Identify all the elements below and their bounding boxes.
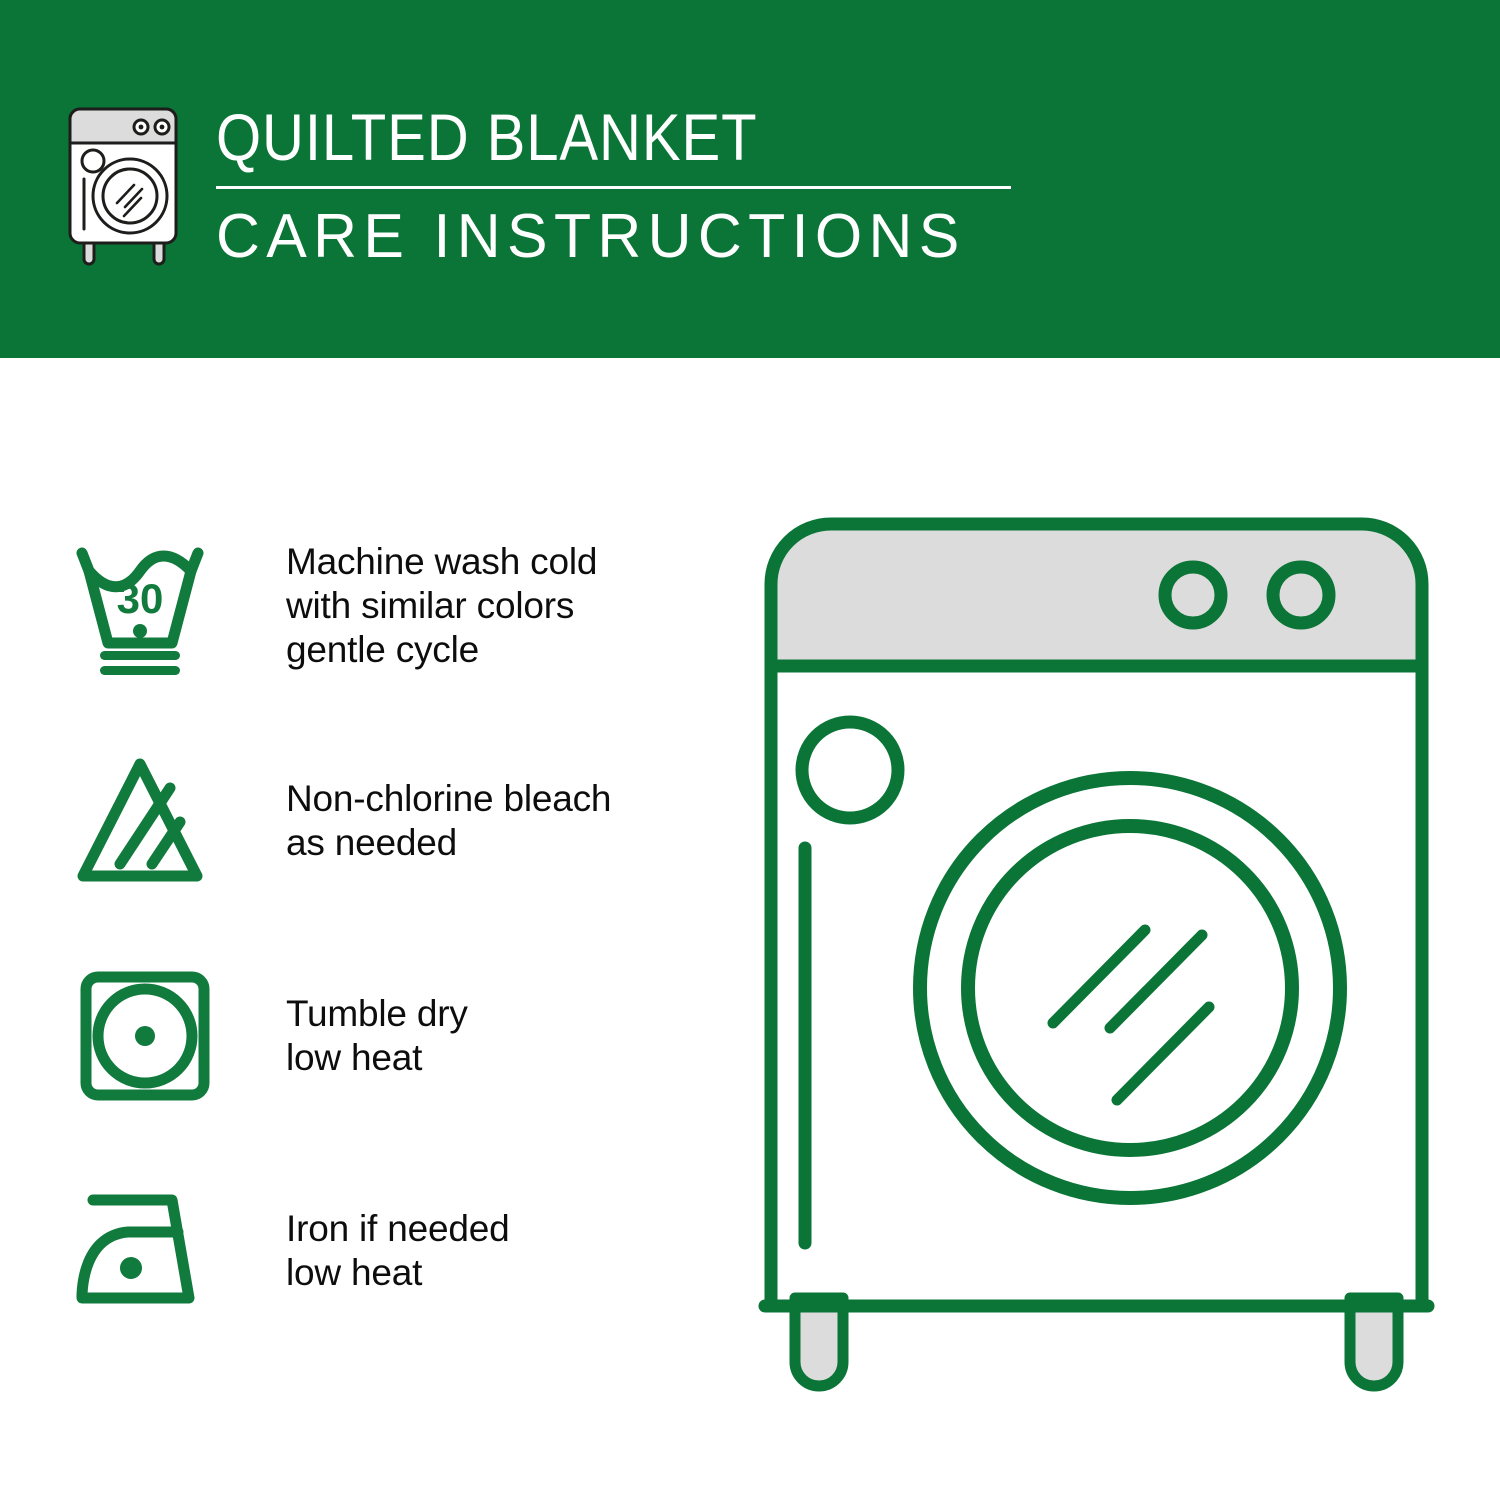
header-banner: QUILTED BLANKET CARE INSTRUCTIONS xyxy=(0,0,1500,358)
drum-inner-ring xyxy=(968,826,1292,1150)
care-instruction-list: 30 Machine wash cold with similar colors… xyxy=(60,498,720,1358)
title-divider xyxy=(216,186,1011,189)
care-label-line: with similar colors xyxy=(286,584,597,628)
drum-stripes xyxy=(1053,930,1209,1100)
care-label-line: Tumble dry xyxy=(286,992,468,1036)
care-label-line: low heat xyxy=(286,1036,468,1080)
iron-low-heat-icon xyxy=(60,1176,240,1326)
care-label-tumble-dry: Tumble dry low heat xyxy=(286,992,468,1080)
care-instructions-page: QUILTED BLANKET CARE INSTRUCTIONS 30 xyxy=(0,0,1500,1500)
washing-machine-illustration xyxy=(745,498,1465,1423)
care-row-wash: 30 Machine wash cold with similar colors… xyxy=(60,498,720,713)
care-row-iron: Iron if needed low heat xyxy=(60,1143,720,1358)
care-label-bleach: Non-chlorine bleach as needed xyxy=(286,777,611,865)
wash-tub-30-gentle-icon: 30 xyxy=(60,531,240,681)
care-row-tumble-dry: Tumble dry low heat xyxy=(60,928,720,1143)
care-label-iron: Iron if needed low heat xyxy=(286,1207,509,1295)
care-row-bleach: Non-chlorine bleach as needed xyxy=(60,713,720,928)
wash-temperature-value: 30 xyxy=(117,575,164,622)
care-label-line: Machine wash cold xyxy=(286,540,597,584)
drum-outer-ring xyxy=(920,778,1340,1198)
care-label-line: low heat xyxy=(286,1251,509,1295)
title-block: QUILTED BLANKET CARE INSTRUCTIONS xyxy=(216,98,1016,273)
care-label-wash: Machine wash cold with similar colors ge… xyxy=(286,540,597,672)
care-label-line: as needed xyxy=(286,821,611,865)
washing-machine-icon xyxy=(62,103,192,268)
non-chlorine-bleach-triangle-icon xyxy=(60,746,240,896)
page-subtitle: CARE INSTRUCTIONS xyxy=(216,201,1000,273)
page-title: QUILTED BLANKET xyxy=(216,98,920,176)
care-label-line: gentle cycle xyxy=(286,628,597,672)
care-label-line: Iron if needed xyxy=(286,1207,509,1251)
tumble-dry-low-heat-icon xyxy=(60,961,240,1111)
care-label-line: Non-chlorine bleach xyxy=(286,777,611,821)
detergent-dispenser-icon xyxy=(802,722,898,818)
